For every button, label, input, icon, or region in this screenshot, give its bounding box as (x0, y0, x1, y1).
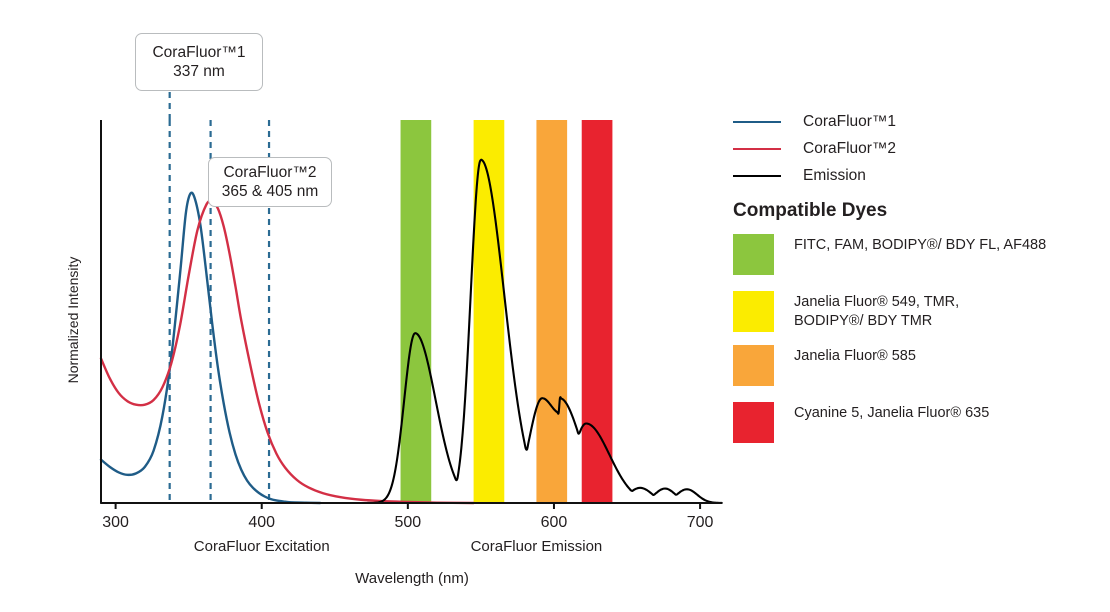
callout-cf2-line2: 365 & 405 nm (222, 182, 319, 201)
dye-label: Janelia Fluor® 549, TMR, BODIPY®/ BDY TM… (794, 291, 959, 331)
legend-row-3: Emission (733, 162, 1093, 189)
legend-row-2: CoraFluor™2 (733, 135, 1093, 162)
chart-canvas: 300400500600700 Normalized Intensity Cor… (0, 0, 730, 612)
callout-cf1-line2: 337 nm (173, 62, 225, 81)
dye-color-swatch (733, 345, 774, 386)
dye-row-1: FITC, FAM, BODIPY®/ BDY FL, AF488 (733, 234, 1108, 275)
compatible-dyes-title: Compatible Dyes (733, 200, 887, 222)
legend-panel: CoraFluor™1CoraFluor™2Emission Compatibl… (730, 0, 1110, 612)
dye-label: FITC, FAM, BODIPY®/ BDY FL, AF488 (794, 234, 1046, 255)
x-axis-ticks-group: 300400500600700 (102, 503, 713, 531)
dye-row-4: Cyanine 5, Janelia Fluor® 635 (733, 402, 1108, 443)
x-tick-label-300: 300 (102, 514, 129, 531)
compatible-dyes-list: FITC, FAM, BODIPY®/ BDY FL, AF488Janelia… (733, 234, 1108, 459)
callout-corafluor-2: CoraFluor™2 365 & 405 nm (208, 157, 332, 207)
dye-color-swatch (733, 291, 774, 332)
callout-corafluor-1: CoraFluor™1 337 nm (135, 33, 263, 91)
x-axis-title: Wavelength (nm) (355, 570, 469, 587)
x-tick-label-700: 700 (687, 514, 714, 531)
dye-label: Cyanine 5, Janelia Fluor® 635 (794, 402, 989, 423)
y-axis-title: Normalized Intensity (65, 257, 81, 384)
dye-color-swatch (733, 402, 774, 443)
corafluor-1-excitation-curve (101, 193, 320, 503)
dye-row-3: Janelia Fluor® 585 (733, 345, 1108, 386)
legend-row-1: CoraFluor™1 (733, 108, 1093, 135)
dye-row-2: Janelia Fluor® 549, TMR, BODIPY®/ BDY TM… (733, 291, 1108, 332)
legend-line-swatch (733, 121, 781, 123)
legend-label: CoraFluor™1 (803, 113, 896, 131)
spectra-chart: 300400500600700 Normalized Intensity Cor… (0, 0, 730, 612)
callout-cf2-line1: CoraFluor™2 (223, 163, 316, 182)
x-tick-label-600: 600 (541, 514, 568, 531)
x-tick-label-500: 500 (394, 514, 421, 531)
red-band (582, 120, 613, 503)
series-legend: CoraFluor™1CoraFluor™2Emission (733, 108, 1093, 189)
dye-label: Janelia Fluor® 585 (794, 345, 916, 366)
legend-label: CoraFluor™2 (803, 140, 896, 158)
legend-line-swatch (733, 175, 781, 177)
legend-label: Emission (803, 167, 866, 185)
excitation-range-label: CoraFluor Excitation (194, 538, 330, 555)
orange-band (536, 120, 567, 503)
emission-range-label: CoraFluor Emission (471, 538, 603, 555)
legend-line-swatch (733, 148, 781, 150)
x-tick-label-400: 400 (248, 514, 275, 531)
dye-color-swatch (733, 234, 774, 275)
callout-cf1-line1: CoraFluor™1 (152, 43, 245, 62)
green-band (401, 120, 432, 503)
